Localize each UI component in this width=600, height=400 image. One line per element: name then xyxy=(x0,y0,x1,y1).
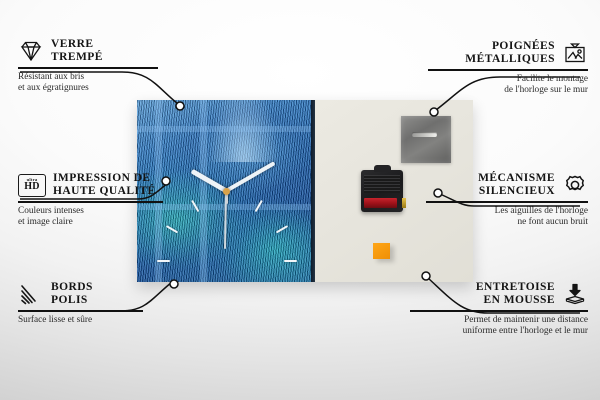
callout-title: BORDS POLIS xyxy=(51,281,93,307)
callout-title: VERRE TREMPÉ xyxy=(51,38,103,64)
callout-header: BORDS POLIS xyxy=(18,281,143,307)
callout-title: POIGNÉES MÉTALLIQUES xyxy=(465,40,555,66)
face-grid-line xyxy=(137,126,315,132)
mechanism-tab xyxy=(374,165,391,172)
clock-mechanism xyxy=(361,170,403,212)
polished-edges-icon xyxy=(18,282,44,306)
callout-header: ENTRETOISE EN MOUSSE xyxy=(410,281,588,307)
gear-icon xyxy=(562,173,588,197)
callout-header: POIGNÉES MÉTALLIQUES xyxy=(428,40,588,66)
hour-mark xyxy=(157,260,227,262)
callout-rule xyxy=(18,67,158,69)
picture-frame-hanger-icon xyxy=(562,41,588,65)
battery-terminal xyxy=(402,198,406,208)
callout-rule xyxy=(18,310,143,312)
product-photo xyxy=(137,100,473,282)
callout-mecanisme-silencieux: MÉCANISME SILENCIEUX Les aiguilles de l'… xyxy=(426,172,588,228)
hour-mark xyxy=(166,260,228,282)
callout-title: MÉCANISME SILENCIEUX xyxy=(478,172,555,198)
callout-subtitle: Surface lisse et sûre xyxy=(18,315,143,326)
aa-battery xyxy=(364,198,397,208)
callout-bords-polis: BORDS POLIS Surface lisse et sûre xyxy=(18,281,143,326)
ultra-hd-badge-icon: ultra HD xyxy=(18,174,46,197)
metal-hanger-plate xyxy=(401,116,451,163)
foam-spacer xyxy=(373,243,390,259)
foam-spacer-press-icon xyxy=(562,282,588,306)
callout-verre-trempe: VERRE TREMPÉ Résistant aux bris et aux é… xyxy=(18,38,158,94)
mechanism-ribs xyxy=(364,175,400,193)
clock-front-face xyxy=(137,100,315,282)
clock-center-pin xyxy=(223,188,230,195)
callout-rule xyxy=(428,69,588,71)
callout-subtitle: Résistant aux bris et aux égratignures xyxy=(18,72,158,95)
callout-header: MÉCANISME SILENCIEUX xyxy=(426,172,588,198)
callout-subtitle: Couleurs intenses et image claire xyxy=(18,206,163,229)
callout-entretoise-en-mousse: ENTRETOISE EN MOUSSE Permet de maintenir… xyxy=(410,281,588,337)
callout-subtitle: Permet de maintenir une distance uniform… xyxy=(410,315,588,338)
hour-mark xyxy=(227,260,297,262)
callout-header: ultra HD IMPRESSION DE HAUTE QUALITÉ xyxy=(18,172,163,198)
diamond-icon xyxy=(18,39,44,63)
callout-title: ENTRETOISE EN MOUSSE xyxy=(476,281,555,307)
clock-hour-hand xyxy=(190,169,227,193)
callout-subtitle: Les aiguilles de l'horloge ne font aucun… xyxy=(426,206,588,229)
callout-rule xyxy=(18,201,163,203)
infographic-canvas: VERRE TREMPÉ Résistant aux bris et aux é… xyxy=(0,0,600,400)
callout-title: IMPRESSION DE HAUTE QUALITÉ xyxy=(53,172,156,198)
callout-rule xyxy=(426,201,588,203)
callout-rule xyxy=(410,310,588,312)
callout-impression-haute-qualite: ultra HD IMPRESSION DE HAUTE QUALITÉ Cou… xyxy=(18,172,163,228)
callout-header: VERRE TREMPÉ xyxy=(18,38,158,64)
callout-poignees-metalliques: POIGNÉES MÉTALLIQUES Facilite le montage… xyxy=(428,40,588,96)
callout-subtitle: Facilite le montage de l'horloge sur le … xyxy=(428,74,588,97)
hanger-slot xyxy=(412,132,437,137)
clock-minute-hand xyxy=(225,161,275,192)
